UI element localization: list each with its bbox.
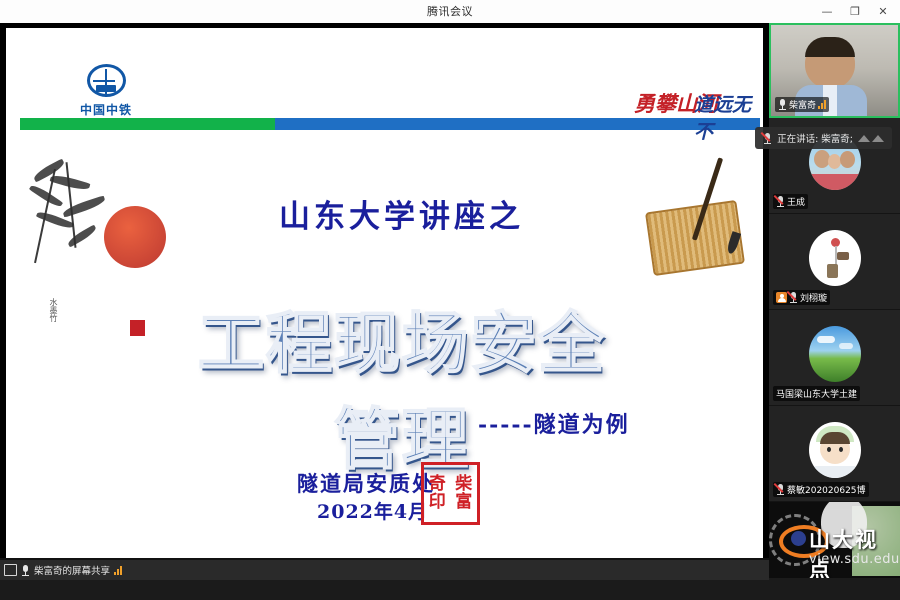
mic-icon (21, 565, 30, 576)
brush-scroll-decoration (643, 156, 743, 284)
signal-strength-icon (818, 100, 826, 109)
seal-char: 富 (451, 494, 478, 512)
org-logo-text: 中国中铁 (80, 101, 132, 118)
china-railway-logo: 中国中铁 (58, 64, 154, 118)
meeting-stage: 中国中铁 勇攀山河 道远无不 (0, 23, 900, 600)
participant-name-bar: 刘栩璇 (773, 290, 830, 305)
title-bar: 腾讯会议 — ❐ ✕ (0, 0, 900, 24)
avatar (809, 230, 861, 286)
watermark-brand: 山大视点 (809, 524, 900, 578)
participant-name-bar: 马国梁山东大学土建 (773, 386, 860, 401)
small-seal-icon (130, 320, 145, 336)
participant-tile-2[interactable]: 刘栩璇 (769, 214, 900, 310)
participant-name: 马国梁山东大学土建 (776, 387, 857, 400)
screen-share-label: 柴富奇的屏幕共享 (34, 563, 110, 577)
railway-emblem-icon (87, 64, 126, 97)
shared-screen-region[interactable]: 中国中铁 勇攀山河 道远无不 (0, 23, 769, 580)
mic-muted-icon (763, 133, 772, 144)
mic-icon (778, 99, 787, 110)
participant-name: 刘栩璇 (800, 291, 827, 304)
tencent-meeting-window: 腾讯会议 — ❐ ✕ 中国中铁 (0, 0, 900, 600)
participant-tile-4[interactable]: 蔡敏202020625博 (769, 406, 900, 502)
presentation-slide: 中国中铁 勇攀山河 道远无不 (6, 28, 763, 576)
participant-name-bar: 柴富奇 (775, 97, 829, 112)
slide-subtitle: -----隧道为例 (478, 407, 630, 439)
slogan-blue-text: 道远无不 (694, 90, 763, 144)
watermark-url: view.sdu.edu.cn (809, 552, 900, 567)
speaking-toast: 正在讲话: 柴富奇; (755, 127, 892, 149)
calligraphy-slogan: 勇攀山河 道远无不 (634, 86, 763, 120)
participant-rail[interactable]: 柴富奇 王成 (769, 23, 900, 600)
seal-char: 柴 (451, 476, 478, 494)
seal-char: 印 (424, 494, 451, 512)
participant-name: 蔡敏202020625博 (787, 483, 866, 496)
avatar (809, 422, 861, 478)
participant-name: 王成 (787, 195, 805, 208)
slide-main-title: 工程现场安全管理 (192, 290, 612, 482)
maximize-button[interactable]: ❐ (842, 1, 868, 22)
red-seal-stamp: 奇 柴 印 富 (421, 462, 480, 525)
participant-name-bar: 蔡敏202020625博 (773, 482, 869, 497)
ink-side-text: 水墨竹 (48, 298, 59, 322)
participant-name-bar: 王成 (773, 194, 808, 209)
participant-tile-0[interactable]: 柴富奇 (769, 23, 900, 118)
mic-muted-icon (776, 196, 785, 207)
window-controls: — ❐ ✕ (814, 0, 896, 23)
seal-char: 奇 (424, 476, 451, 494)
red-sun-shape (104, 206, 166, 268)
emblem-bar (96, 85, 116, 92)
minimize-button[interactable]: — (814, 1, 840, 22)
slide-bar-green-top (20, 118, 275, 130)
slide-date: 2022年4月 (317, 497, 428, 524)
mic-muted-icon (776, 484, 785, 495)
bamboo-leaf (66, 225, 98, 248)
participant-name: 柴富奇 (789, 98, 816, 111)
mic-muted-icon (789, 292, 798, 303)
slide-department: 隧道局安质处 (297, 468, 435, 498)
lecture-series-title: 山东大学讲座之 (279, 191, 524, 236)
sdu-watermark-tile: 山大视点 view.sdu.edu.cn (769, 502, 900, 578)
screen-share-icon (4, 564, 17, 576)
window-title: 腾讯会议 (0, 0, 900, 23)
speaking-toast-text: 正在讲话: 柴富奇; (777, 131, 853, 145)
screen-share-bar: 柴富奇的屏幕共享 (0, 560, 777, 580)
avatar (809, 326, 861, 382)
participant-tile-3[interactable]: 马国梁山东大学土建 (769, 310, 900, 406)
chevron-up-icon (858, 135, 884, 142)
host-badge-icon (776, 292, 787, 303)
signal-strength-icon (114, 566, 122, 575)
bamboo-ink-painting: 水墨竹 (26, 158, 181, 348)
close-button[interactable]: ✕ (870, 1, 896, 22)
